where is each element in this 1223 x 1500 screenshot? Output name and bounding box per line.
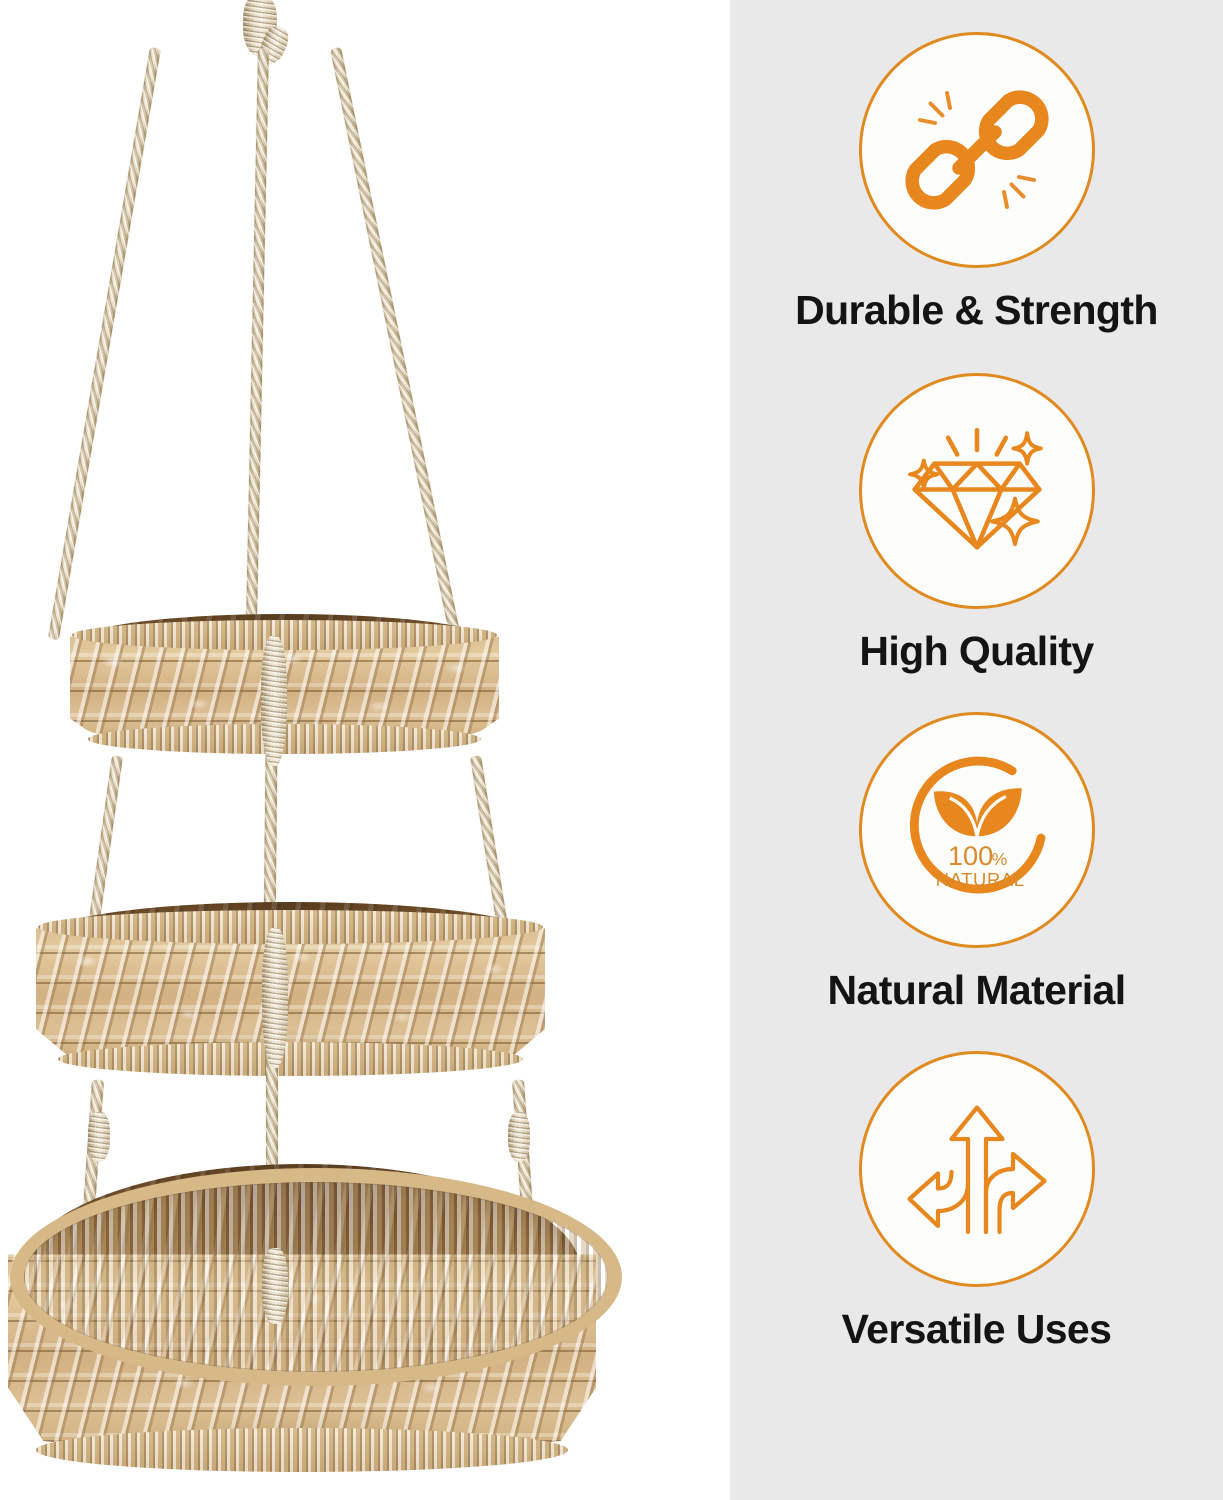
rope-knot-left-anchor — [88, 1112, 110, 1162]
feature-versatile-uses: Versatile Uses — [730, 1051, 1223, 1350]
product-photo — [0, 0, 730, 1500]
rope-right-upper — [330, 47, 468, 676]
rope-center-upper — [245, 48, 269, 648]
feature-durable-strength: Durable & Strength — [730, 32, 1223, 331]
rope-knot-top-tier — [261, 636, 287, 766]
rope-knot-middle-tier — [262, 928, 288, 1068]
feature-label: Natural Material — [827, 970, 1125, 1011]
natural-badge-percent: 100 — [947, 840, 992, 871]
rope-left-upper — [48, 47, 161, 640]
product-photo-panel — [0, 0, 730, 1500]
chain-link-icon — [902, 75, 1052, 225]
svg-text:%: % — [991, 849, 1007, 869]
basket-tier-bottom-base-rim — [36, 1428, 568, 1472]
feature-badge-circle: 100 % NATURAL — [859, 712, 1095, 948]
basket-tier-bottom-rim — [10, 1168, 622, 1386]
feature-label: Versatile Uses — [842, 1309, 1112, 1350]
product-feature-page: Durable & Strength — [0, 0, 1223, 1500]
svg-text:NATURAL: NATURAL — [935, 869, 1024, 890]
basket-tier-middle-rim — [38, 910, 543, 944]
basket-tier-top-rim — [72, 620, 497, 650]
basket-tier-middle — [28, 900, 553, 1095]
feature-high-quality: High Quality — [730, 373, 1223, 672]
three-way-arrows-icon — [902, 1094, 1052, 1244]
feature-label: Durable & Strength — [795, 290, 1158, 331]
diamond-sparkle-icon — [901, 415, 1053, 567]
feature-badge-circle — [859, 373, 1095, 609]
feature-label: High Quality — [859, 631, 1093, 672]
feature-badge-circle — [859, 32, 1095, 268]
basket-tier-bottom — [2, 1160, 602, 1490]
rope-knot-right-anchor — [508, 1112, 530, 1162]
feature-natural-material: 100 % NATURAL Natural Material — [730, 712, 1223, 1011]
features-panel: Durable & Strength — [730, 0, 1223, 1500]
rope-knot-bottom-tier — [262, 1248, 288, 1324]
natural-leaf-badge-icon: 100 % NATURAL — [897, 750, 1057, 910]
basket-tier-middle-base-rim — [58, 1042, 523, 1076]
feature-badge-circle — [859, 1051, 1095, 1287]
